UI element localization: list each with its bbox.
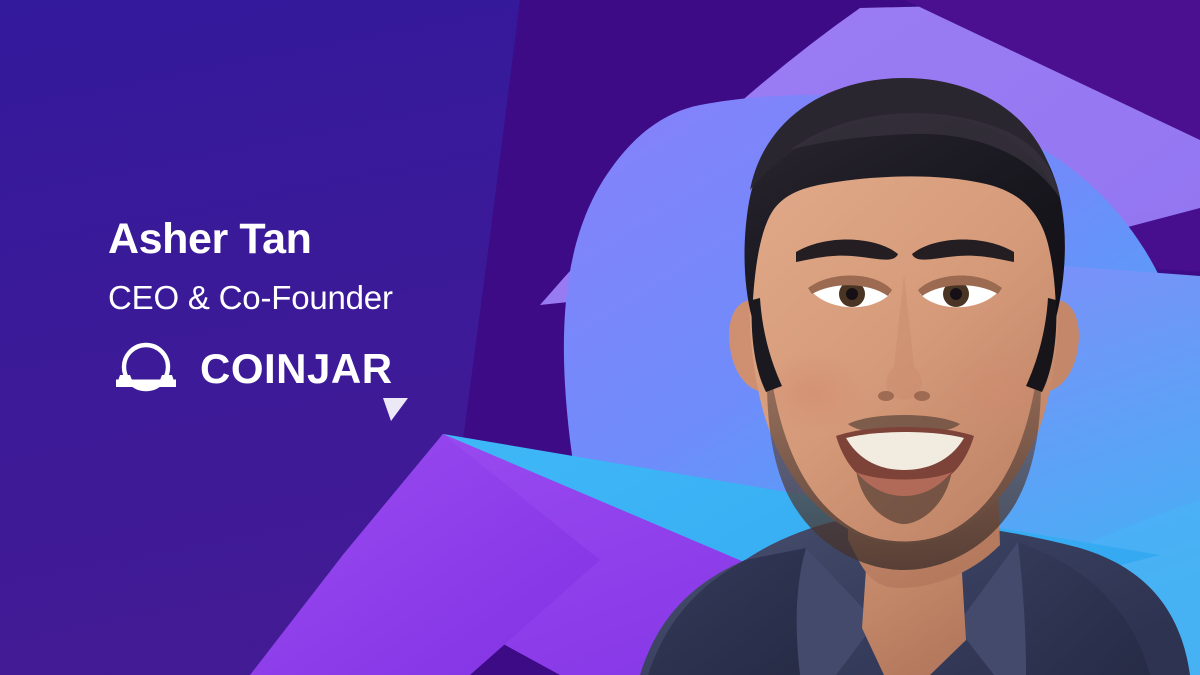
speaker-name: Asher Tan — [108, 218, 528, 261]
coinjar-wordmark: COINJAR — [200, 348, 393, 390]
speaker-role: CEO & Co-Founder — [108, 281, 528, 314]
coinjar-logo-lockup: COINJAR — [108, 340, 528, 398]
speaker-info-block: Asher Tan CEO & Co-Founder COINJAR — [108, 218, 528, 398]
speaker-card: Asher Tan CEO & Co-Founder COINJAR — [0, 0, 1200, 675]
coinjar-jar-icon — [108, 340, 184, 398]
